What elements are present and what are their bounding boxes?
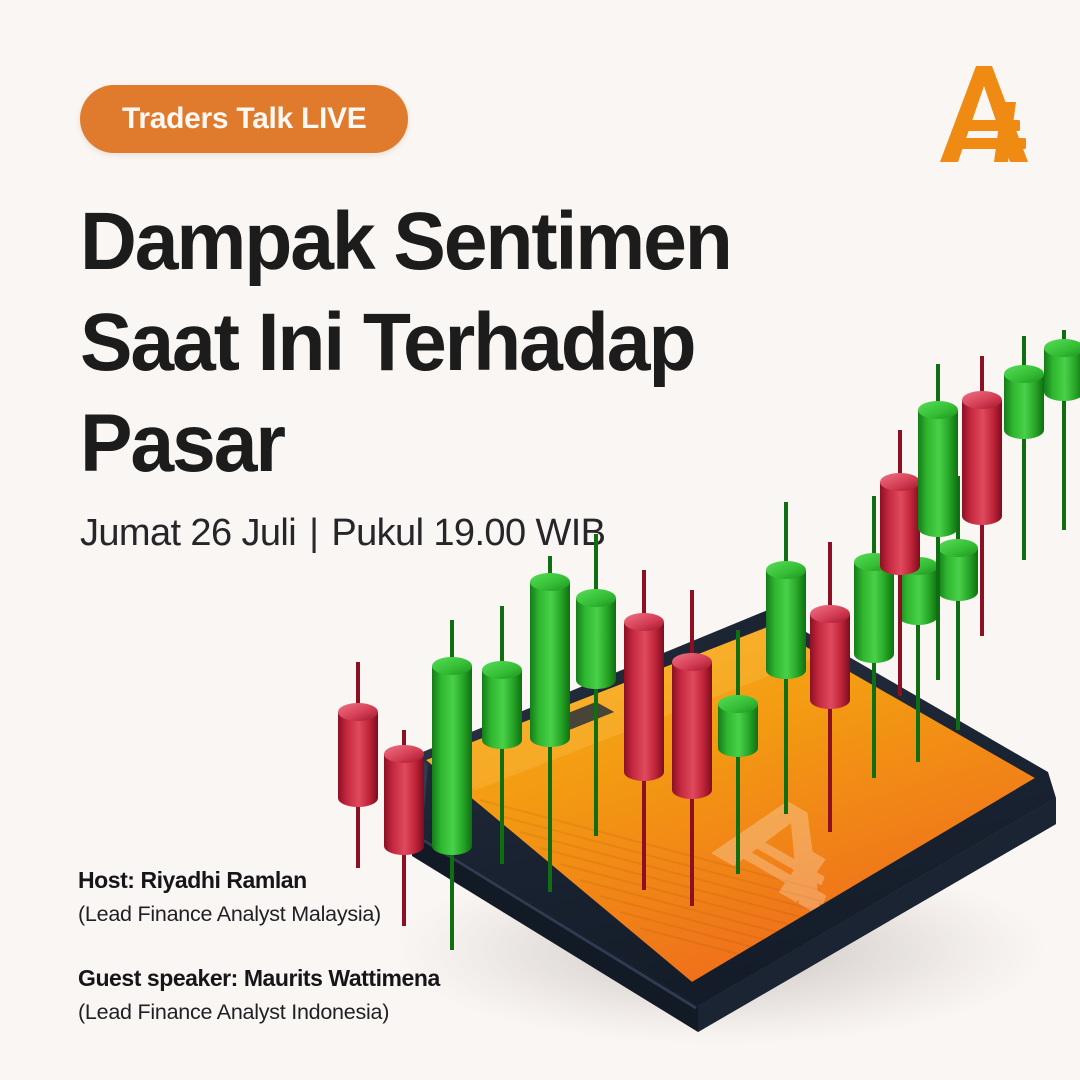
candle-19 bbox=[1044, 330, 1080, 530]
host-block: Host: Riyadhi Ramlan (Lead Finance Analy… bbox=[78, 866, 548, 930]
guest-role: (Lead Finance Analyst Indonesia) bbox=[78, 997, 548, 1027]
host-name: Host: Riyadhi Ramlan bbox=[78, 866, 548, 895]
host-role: (Lead Finance Analyst Malaysia) bbox=[78, 899, 548, 929]
poster-canvas: Traders Talk LIVE Dampak Sentimen Saat I… bbox=[0, 0, 1080, 1080]
candle-16 bbox=[918, 364, 958, 680]
headline-line-1: Dampak Sentimen bbox=[80, 192, 810, 293]
candle-1 bbox=[338, 662, 378, 868]
speaker-list: Host: Riyadhi Ramlan (Lead Finance Analy… bbox=[78, 866, 548, 1027]
ascendex-a-logo-icon bbox=[928, 58, 1048, 170]
guest-block: Guest speaker: Maurits Wattimena (Lead F… bbox=[78, 964, 548, 1028]
live-badge: Traders Talk LIVE bbox=[80, 85, 408, 153]
live-badge-label: Traders Talk LIVE bbox=[122, 104, 366, 134]
event-date: Jumat 26 Juli bbox=[80, 512, 296, 555]
candle-18 bbox=[1004, 336, 1044, 560]
guest-name: Guest speaker: Maurits Wattimena bbox=[78, 964, 548, 993]
